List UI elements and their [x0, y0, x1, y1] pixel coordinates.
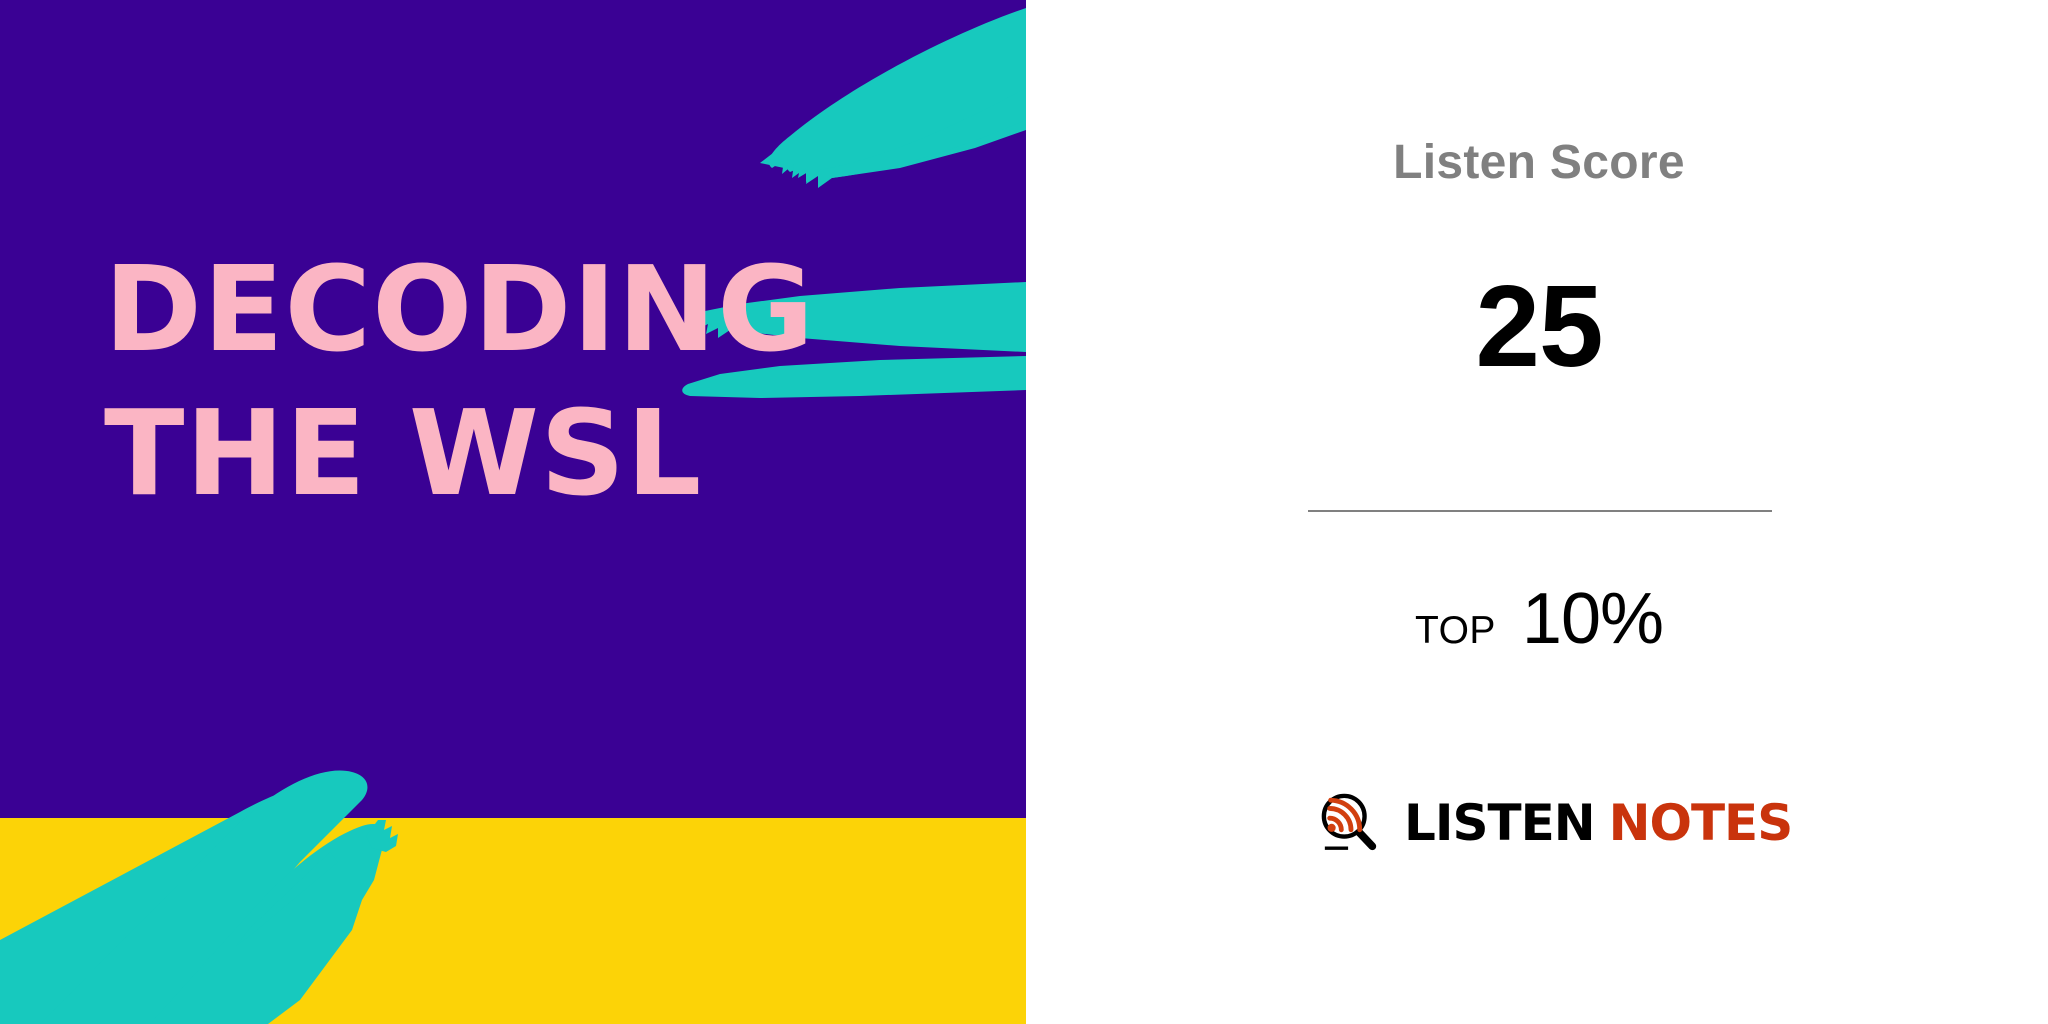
- listen-score-panel-inner: Listen Score 25 TOP 10%: [1304, 0, 1774, 1024]
- rank-prefix-label: TOP: [1415, 609, 1496, 653]
- rank-row: TOP 10%: [1304, 578, 1774, 660]
- brand-word-listen: LISTEN: [1404, 794, 1595, 852]
- listen-notes-wordmark: LISTENNOTES: [1404, 798, 1792, 848]
- listen-score-card: DECODING THE WSL Listen Score 25 TOP 10%: [0, 0, 2048, 1024]
- artwork-title-line-1: DECODING: [104, 252, 934, 368]
- brand-word-notes: NOTES: [1609, 794, 1793, 852]
- artwork-title: DECODING THE WSL: [104, 252, 934, 511]
- listen-notes-magnifier-rss-icon: [1320, 792, 1382, 854]
- listen-notes-logo[interactable]: LISTENNOTES: [1320, 792, 1792, 854]
- rank-percentile-value: 10%: [1522, 578, 1663, 660]
- score-divider: [1308, 510, 1772, 512]
- listen-score-value: 25: [1304, 268, 1774, 384]
- podcast-cover-art[interactable]: DECODING THE WSL: [0, 0, 1026, 1024]
- listen-score-panel: Listen Score 25 TOP 10%: [1026, 0, 2048, 1024]
- artwork-title-line-2: THE WSL: [104, 396, 934, 512]
- listen-score-label: Listen Score: [1304, 135, 1774, 190]
